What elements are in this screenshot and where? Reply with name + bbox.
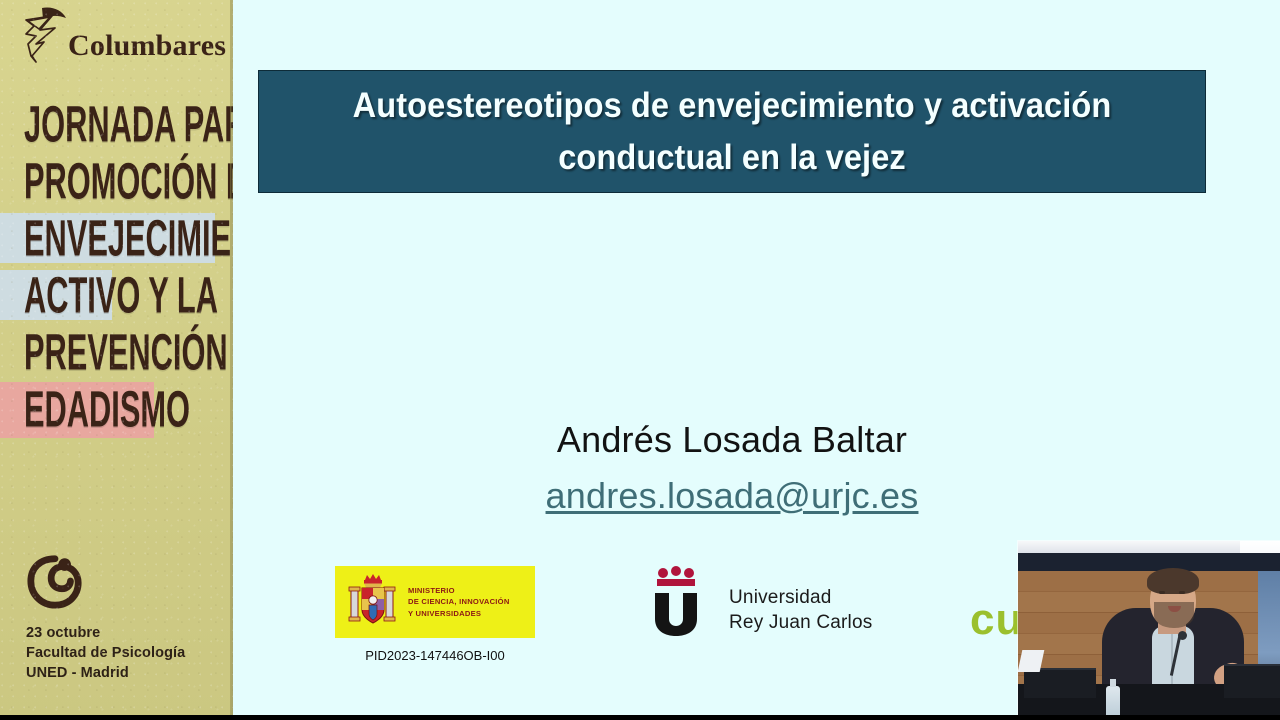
poster-headline-line: PREVENCIÓN DEL <box>24 321 233 386</box>
slide-title-box: Autoestereotipos de envejecimiento y act… <box>258 70 1206 193</box>
poster-footer-line: UNED - Madrid <box>26 663 226 683</box>
uned-psicologia-mark-icon <box>26 552 84 610</box>
columbares-wordmark: Columbares <box>68 29 226 63</box>
poster-footer-line: 23 octubre <box>26 623 226 643</box>
ministry-logo-line: DE CIENCIA, INNOVACIÓN <box>408 596 510 607</box>
bottom-black-bar <box>0 715 1280 720</box>
urjc-logo-line: Universidad <box>729 585 872 610</box>
ministry-logo-line: Y UNIVERSIDADES <box>408 608 510 619</box>
poster-headline-row: PROMOCIÓN DEL <box>0 152 233 209</box>
pip-monitor-right <box>1224 664 1280 698</box>
poster-headline-row: JORNADA PARA LA <box>0 95 233 152</box>
project-code: PID2023-147446OB-I00 <box>335 648 535 663</box>
presentation-slide: Columbares JORNADA PARA LA PROMOCIÓN DEL… <box>0 0 1280 720</box>
poster-headline: JORNADA PARA LA PROMOCIÓN DEL ENVEJECIMI… <box>0 95 233 437</box>
poster-footer-lines: 23 octubre Facultad de Psicología UNED -… <box>26 623 226 683</box>
urjc-logo-text: Universidad Rey Juan Carlos <box>729 585 872 635</box>
author-name: Andrés Losada Baltar <box>258 414 1206 466</box>
poster-right-edge <box>230 0 233 715</box>
columbares-dove-icon <box>22 6 74 64</box>
speaker-eye-left <box>1159 591 1165 594</box>
cu-partial-logo: cu <box>970 598 1023 642</box>
speaker-eye-right <box>1179 591 1185 594</box>
spain-coat-of-arms-icon <box>345 572 401 632</box>
speaker-video-overlay[interactable] <box>1018 541 1280 720</box>
poster-headline-line: ACTIVO Y LA <box>24 264 218 329</box>
poster-headline-line: JORNADA PARA LA <box>24 93 233 158</box>
poster-headline-line: ENVEJECIMIENTO <box>24 207 233 272</box>
poster-headline-row: ENVEJECIMIENTO <box>0 209 233 266</box>
poster-footer-line: Facultad de Psicología <box>26 643 226 663</box>
slide-title: Autoestereotipos de envejecimiento y act… <box>292 80 1172 184</box>
urjc-logo-line: Rey Juan Carlos <box>729 610 872 635</box>
pip-monitor-left <box>1024 668 1096 698</box>
poster-headline-line: PROMOCIÓN DEL <box>24 150 233 215</box>
microphone-head-icon <box>1178 631 1187 640</box>
poster-footer: 23 octubre Facultad de Psicología UNED -… <box>26 552 226 683</box>
jornada-poster-image: Columbares JORNADA PARA LA PROMOCIÓN DEL… <box>0 0 233 715</box>
author-block: Andrés Losada Baltar andres.losada@urjc.… <box>258 414 1206 522</box>
ministerio-ciencia-innovacion-universidades-logo: MINISTERIO DE CIENCIA, INNOVACIÓN Y UNIV… <box>335 566 535 638</box>
poster-headline-line: EDADISMO <box>24 378 190 443</box>
ministry-logo-line: MINISTERIO <box>408 585 510 596</box>
urjc-crown-u-icon <box>643 565 713 637</box>
author-email-link[interactable]: andres.losada@urjc.es <box>546 470 919 522</box>
pip-upper-band <box>1018 553 1280 571</box>
ministry-logo-text: MINISTERIO DE CIENCIA, INNOVACIÓN Y UNIV… <box>408 585 510 619</box>
universidad-rey-juan-carlos-logo: Universidad Rey Juan Carlos <box>643 562 873 642</box>
columbares-logo: Columbares <box>14 4 232 72</box>
poster-headline-row: EDADISMO <box>0 380 233 437</box>
speaker-hair <box>1147 568 1199 594</box>
poster-headline-row: ACTIVO Y LA <box>0 266 233 323</box>
poster-headline-row: PREVENCIÓN DEL <box>0 323 233 380</box>
